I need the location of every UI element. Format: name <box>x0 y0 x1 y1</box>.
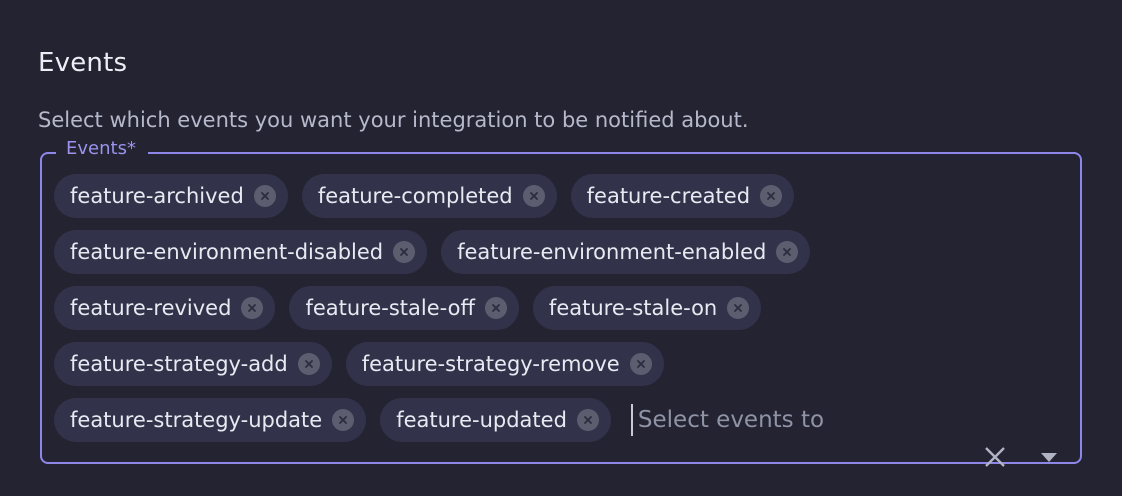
close-circle-icon[interactable] <box>523 185 545 207</box>
events-settings-page: Events Select which events you want your… <box>0 0 1122 496</box>
event-chip-label: feature-strategy-remove <box>362 342 620 386</box>
text-caret <box>631 404 633 436</box>
event-chip[interactable]: feature-archived <box>54 174 288 218</box>
event-chip[interactable]: feature-environment-enabled <box>441 230 810 274</box>
event-chip[interactable]: feature-created <box>571 174 794 218</box>
chip-row: feature-strategy-addfeature-strategy-rem… <box>54 342 1068 386</box>
event-chip-label: feature-environment-enabled <box>457 230 766 274</box>
page-title: Events <box>38 46 127 80</box>
event-chip[interactable]: feature-stale-on <box>533 286 761 330</box>
event-chip[interactable]: feature-strategy-remove <box>346 342 664 386</box>
close-circle-icon[interactable] <box>760 185 782 207</box>
chip-row: feature-strategy-updatefeature-updatedSe… <box>54 398 1068 442</box>
event-chip[interactable]: feature-stale-off <box>289 286 518 330</box>
events-input-placeholder: Select events to <box>638 398 824 442</box>
close-icon[interactable] <box>980 442 1010 472</box>
close-circle-icon[interactable] <box>332 409 354 431</box>
selected-chips-area[interactable]: feature-archivedfeature-completedfeature… <box>40 152 1082 464</box>
chevron-down-icon[interactable] <box>1038 446 1060 468</box>
chip-row: feature-archivedfeature-completedfeature… <box>54 174 1068 218</box>
event-chip-label: feature-environment-disabled <box>70 230 383 274</box>
close-circle-icon[interactable] <box>577 409 599 431</box>
event-chip-label: feature-stale-off <box>305 286 474 330</box>
close-circle-icon[interactable] <box>485 297 507 319</box>
event-chip[interactable]: feature-revived <box>54 286 275 330</box>
chip-row: feature-environment-disabledfeature-envi… <box>54 230 1068 274</box>
events-multiselect[interactable]: Events* feature-archivedfeature-complete… <box>40 152 1082 464</box>
event-chip[interactable]: feature-updated <box>380 398 611 442</box>
close-circle-icon[interactable] <box>630 353 652 375</box>
close-circle-icon[interactable] <box>241 297 263 319</box>
close-circle-icon[interactable] <box>776 241 798 263</box>
event-chip[interactable]: feature-environment-disabled <box>54 230 427 274</box>
event-chip-label: feature-revived <box>70 286 231 330</box>
close-circle-icon[interactable] <box>298 353 320 375</box>
event-chip[interactable]: feature-completed <box>302 174 557 218</box>
events-search-input[interactable]: Select events to <box>631 398 1068 442</box>
event-chip-label: feature-completed <box>318 174 513 218</box>
event-chip-label: feature-archived <box>70 174 244 218</box>
event-chip-label: feature-strategy-add <box>70 342 288 386</box>
close-circle-icon[interactable] <box>254 185 276 207</box>
field-controls <box>980 442 1060 472</box>
event-chip[interactable]: feature-strategy-update <box>54 398 366 442</box>
event-chip-label: feature-created <box>587 174 750 218</box>
event-chip-label: feature-stale-on <box>549 286 717 330</box>
event-chip[interactable]: feature-strategy-add <box>54 342 332 386</box>
close-circle-icon[interactable] <box>393 241 415 263</box>
event-chip-label: feature-updated <box>396 398 567 442</box>
chip-row: feature-revivedfeature-stale-offfeature-… <box>54 286 1068 330</box>
page-description: Select which events you want your integr… <box>38 104 749 136</box>
event-chip-label: feature-strategy-update <box>70 398 322 442</box>
close-circle-icon[interactable] <box>727 297 749 319</box>
